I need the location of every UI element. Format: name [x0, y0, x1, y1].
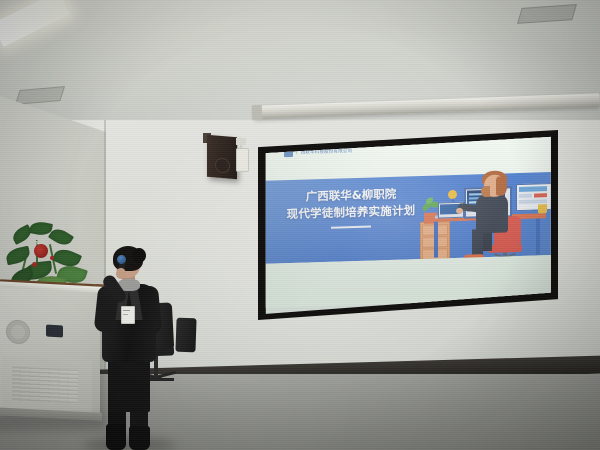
- badge-text-line: [123, 310, 130, 311]
- red-flower-bud: [32, 262, 37, 267]
- badge-text-line: [123, 314, 128, 315]
- presenter-boot: [106, 424, 126, 450]
- chair-seat: [488, 244, 522, 253]
- mug-icon: [538, 204, 547, 213]
- illustration-hair-back: [496, 176, 507, 195]
- podium-vent-slots: [12, 366, 78, 403]
- red-flower: [34, 244, 48, 258]
- illustration-beard: [481, 186, 490, 197]
- desk-leg: [536, 218, 540, 254]
- monitor-bar: [519, 186, 547, 192]
- presenter[interactable]: [88, 246, 172, 450]
- monitor-bar-accent: [534, 193, 547, 197]
- projector-screen-surface[interactable]: 广西联华科技股份有限公司 广西联华&柳职院 现代学徒制培养实施计划: [258, 130, 558, 320]
- monitor-bar: [519, 194, 532, 198]
- projector-screen-roller-cap: [252, 105, 263, 120]
- podium-speaker-grille-icon: [6, 319, 30, 344]
- podium-control-panel[interactable]: [46, 325, 63, 338]
- conference-room-photo: 广西联华科技股份有限公司 广西联华&柳职院 现代学徒制培养实施计划: [0, 0, 600, 450]
- red-flower-bud: [50, 256, 54, 260]
- presenter-boot: [129, 426, 150, 450]
- illustration-torso: [476, 194, 508, 233]
- person-at-desk-illustration: [410, 163, 558, 264]
- office-chair-partial[interactable]: [175, 318, 196, 353]
- projected-slide: 广西联华科技股份有限公司 广西联华&柳职院 现代学徒制培养实施计划: [258, 130, 558, 320]
- leaf: [5, 246, 32, 266]
- wall-plug: [236, 148, 249, 172]
- wall-speaker-icon: [207, 135, 237, 180]
- presenter-hair-bun: [132, 248, 146, 263]
- slide-title: 广西联华&柳职院 现代学徒制培养实施计划: [286, 185, 416, 223]
- desk-lamp-icon: [448, 190, 457, 199]
- presenter-hand: [116, 268, 126, 279]
- desk-leg: [434, 222, 438, 258]
- speaker-cone-icon: [215, 157, 230, 173]
- presenter-trousers: [108, 358, 150, 412]
